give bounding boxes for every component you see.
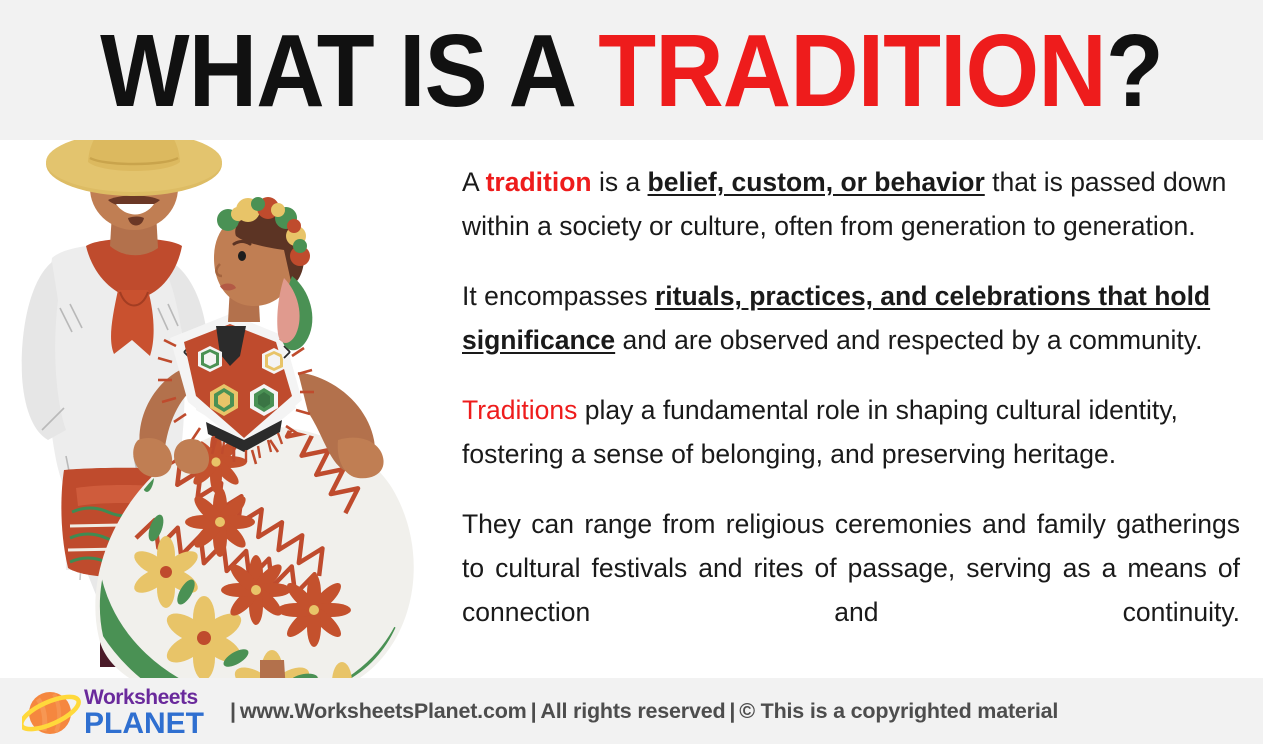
logo-wordmark: Worksheets PLANET bbox=[84, 687, 204, 739]
footer-credits: |www.WorksheetsPlanet.com|All rights res… bbox=[226, 699, 1058, 724]
worksheet-page: WHAT IS A TRADITION ? bbox=[0, 0, 1263, 744]
logo-worksheets-text: Worksheets bbox=[84, 687, 204, 708]
logo-planet-text: PLANET bbox=[84, 709, 204, 739]
copyright-icon: © bbox=[739, 699, 755, 723]
p4-seg-1: They can range from religious ceremonies… bbox=[462, 509, 1240, 627]
worksheets-planet-logo[interactable]: Worksheets PLANET bbox=[22, 683, 212, 739]
footer-copyright-note: This is a copyrighted material bbox=[761, 699, 1058, 723]
p2-seg-3: and are observed and respected by a comm… bbox=[615, 325, 1202, 355]
page-title-part-3: ? bbox=[1106, 19, 1163, 122]
paragraph-3: Traditions play a fundamental role in sh… bbox=[462, 388, 1240, 476]
p1-emphasis-belief-custom-behavior: belief, custom, or behavior bbox=[648, 167, 985, 197]
footer-separator-2: | bbox=[527, 699, 541, 723]
footer-separator-3: | bbox=[725, 699, 739, 723]
page-title-part-1: WHAT IS A bbox=[100, 19, 576, 122]
paragraph-2: It encompasses rituals, practices, and c… bbox=[462, 274, 1240, 362]
p1-seg-1: A bbox=[462, 167, 486, 197]
p1-keyword-tradition: tradition bbox=[486, 167, 592, 197]
paragraph-4: They can range from religious ceremonies… bbox=[462, 502, 1240, 678]
definition-text-block: A tradition is a belief, custom, or beha… bbox=[462, 160, 1240, 678]
mexican-dancers-illustration bbox=[8, 140, 448, 678]
p2-seg-1: It encompasses bbox=[462, 281, 655, 311]
footer-website[interactable]: www.WorksheetsPlanet.com bbox=[240, 699, 527, 723]
page-title-part-2: TRADITION bbox=[598, 19, 1106, 122]
page-title: WHAT IS A TRADITION ? bbox=[51, 0, 1213, 140]
footer-separator-1: | bbox=[226, 699, 240, 723]
footer-rights: All rights reserved bbox=[540, 699, 725, 723]
p3-keyword-traditions: Traditions bbox=[462, 395, 577, 425]
paragraph-1: A tradition is a belief, custom, or beha… bbox=[462, 160, 1240, 248]
footer-band: Worksheets PLANET |www.WorksheetsPlanet.… bbox=[0, 678, 1263, 744]
planet-icon bbox=[22, 685, 84, 741]
p1-seg-3: is a bbox=[592, 167, 648, 197]
